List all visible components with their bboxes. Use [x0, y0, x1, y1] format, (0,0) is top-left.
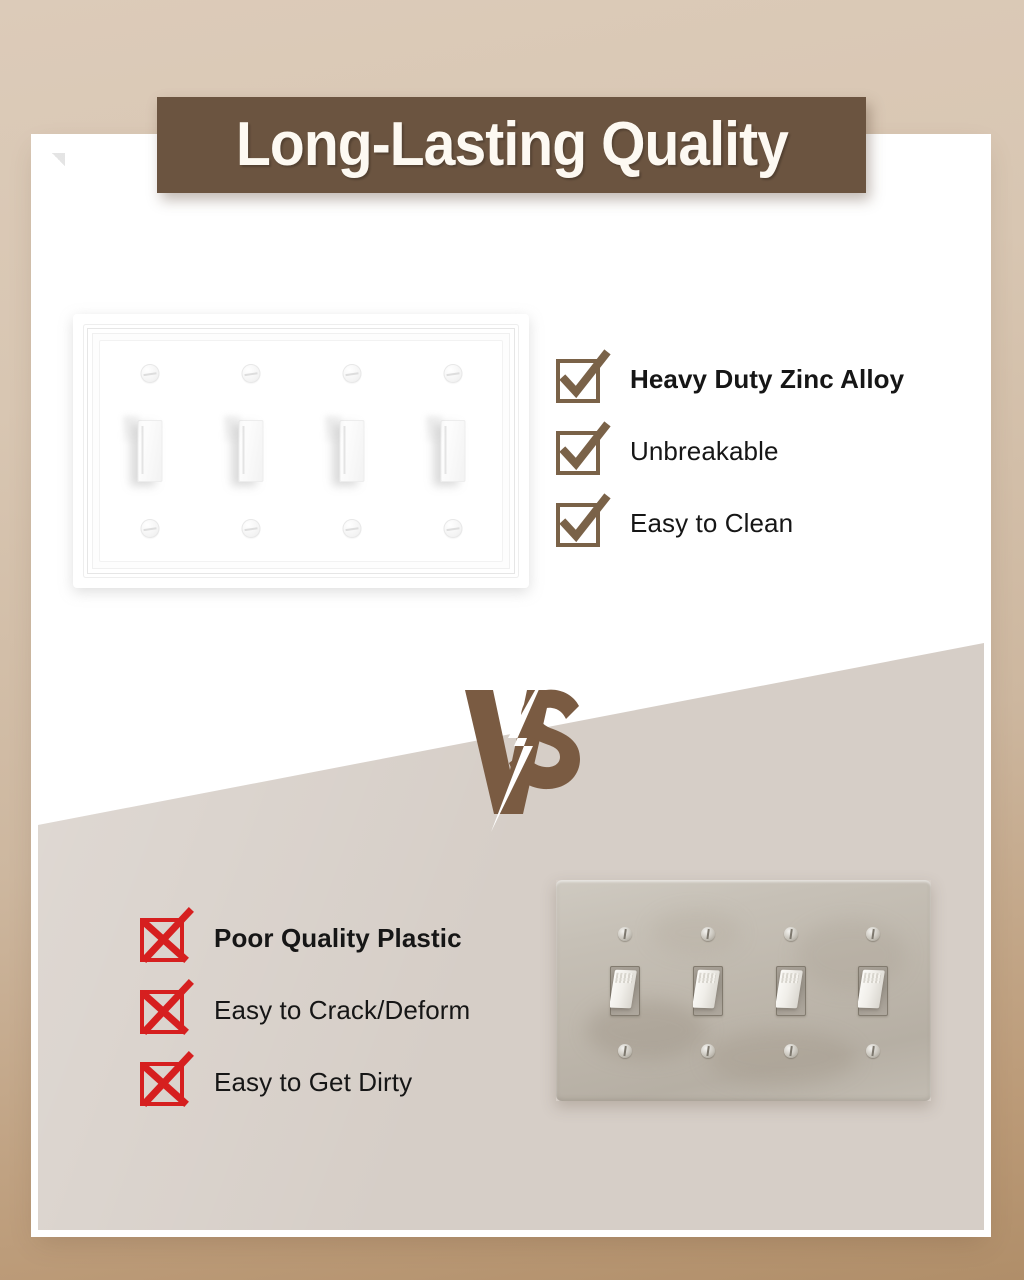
toggle-switch: [339, 420, 364, 482]
page-title: Long-Lasting Quality: [235, 114, 787, 176]
switch-gang: [838, 880, 908, 1101]
screw-icon: [140, 519, 159, 538]
card-corner-artifact: [52, 153, 65, 166]
pros-list-item: Unbreakable: [556, 428, 904, 474]
toggle-switch-frame: [858, 966, 888, 1016]
good-product-image: [73, 314, 529, 588]
cons-item-label: Easy to Get Dirty: [214, 1067, 412, 1098]
pros-feature-list: Heavy Duty Zinc Alloy Unbreakable Easy t…: [556, 356, 904, 546]
screw-icon: [140, 364, 159, 383]
screw-icon: [443, 364, 462, 383]
cons-item-label: Easy to Crack/Deform: [214, 995, 470, 1026]
cons-feature-list: Poor Quality Plastic Easy to Crack/Defor…: [140, 915, 470, 1105]
white-plate-bevel-frame: [83, 324, 519, 578]
toggle-switch-frame: [610, 966, 640, 1016]
switch-gang: [590, 880, 660, 1101]
switch-gang: [99, 340, 200, 562]
check-mark-icon: [556, 428, 602, 474]
versus-badge: [447, 662, 597, 832]
screw-icon: [443, 519, 462, 538]
switch-gang: [673, 880, 743, 1101]
cons-list-item: Easy to Get Dirty: [140, 1059, 470, 1105]
cross-mark-icon: [140, 1059, 186, 1105]
pros-item-label: Easy to Clean: [630, 508, 793, 539]
toggle-switch-frame: [776, 966, 806, 1016]
switch-gang: [756, 880, 826, 1101]
screw-icon: [701, 927, 715, 941]
screw-icon: [618, 1044, 632, 1058]
screw-icon: [784, 1044, 798, 1058]
screw-icon: [784, 927, 798, 941]
screw-icon: [342, 364, 361, 383]
dirty-wall-plate: [556, 880, 931, 1101]
toggle-switch: [858, 969, 885, 1008]
switch-gang: [301, 340, 402, 562]
screw-icon: [618, 927, 632, 941]
screw-icon: [866, 927, 880, 941]
toggle-switch: [693, 969, 720, 1008]
title-banner: Long-Lasting Quality: [157, 97, 866, 193]
dirty-plate-face: [590, 880, 909, 1101]
screw-icon: [241, 364, 260, 383]
pros-list-item: Easy to Clean: [556, 500, 904, 546]
pros-item-label: Unbreakable: [630, 436, 779, 467]
product-comparison-card: Heavy Duty Zinc Alloy Unbreakable Easy t…: [38, 141, 984, 1230]
toggle-switch: [238, 420, 263, 482]
toggle-switch: [776, 969, 803, 1008]
screw-icon: [241, 519, 260, 538]
toggle-switch: [610, 969, 637, 1008]
screw-icon: [342, 519, 361, 538]
white-plate-face: [99, 340, 503, 562]
cons-list-item: Poor Quality Plastic: [140, 915, 470, 961]
switch-gang: [200, 340, 301, 562]
cross-mark-icon: [140, 915, 186, 961]
toggle-switch: [440, 420, 465, 482]
check-mark-icon: [556, 356, 602, 402]
screw-icon: [701, 1044, 715, 1058]
cons-list-item: Easy to Crack/Deform: [140, 987, 470, 1033]
toggle-switch: [137, 420, 162, 482]
check-mark-icon: [556, 500, 602, 546]
switch-gang: [402, 340, 503, 562]
bad-product-image: [556, 880, 931, 1101]
toggle-switch-frame: [693, 966, 723, 1016]
screw-icon: [866, 1044, 880, 1058]
cons-item-label: Poor Quality Plastic: [214, 923, 462, 954]
pros-item-label: Heavy Duty Zinc Alloy: [630, 364, 904, 395]
cross-mark-icon: [140, 987, 186, 1033]
pros-list-item: Heavy Duty Zinc Alloy: [556, 356, 904, 402]
white-wall-plate: [73, 314, 529, 588]
